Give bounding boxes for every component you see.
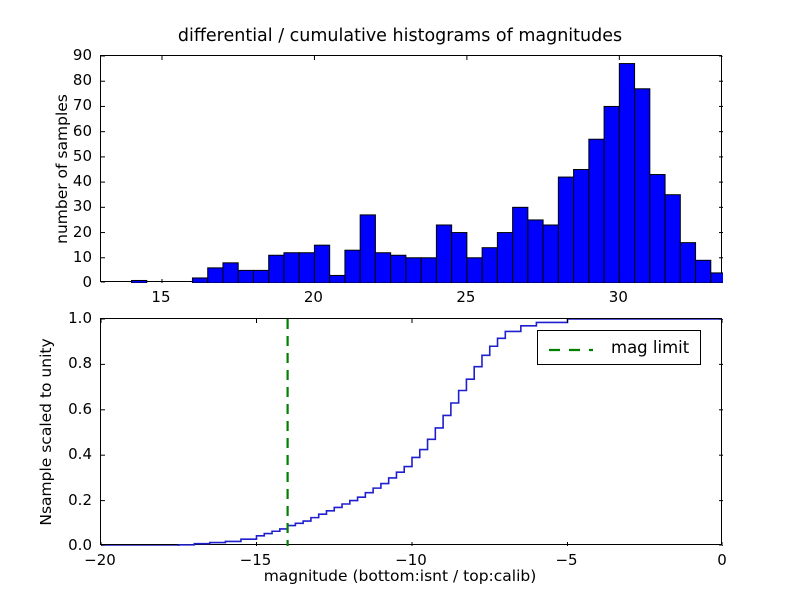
y-tick-label: 70 bbox=[50, 96, 92, 114]
histogram-bar bbox=[223, 263, 238, 283]
histogram-bar bbox=[619, 64, 634, 283]
histogram-bar bbox=[680, 243, 695, 283]
histogram-bar bbox=[452, 233, 467, 283]
figure-canvas: differential / cumulative histograms of … bbox=[0, 0, 800, 600]
histogram-bar bbox=[269, 255, 284, 283]
y-tick-label: 0.8 bbox=[36, 354, 92, 372]
y-tick-label: 50 bbox=[50, 147, 92, 165]
y-tick-label: 0 bbox=[50, 273, 92, 291]
histogram-bar bbox=[360, 215, 375, 283]
histogram-bar bbox=[528, 220, 543, 283]
histogram-bar bbox=[604, 106, 619, 283]
histogram-bar bbox=[513, 207, 528, 283]
y-tick-label: 90 bbox=[50, 46, 92, 64]
histogram-bar bbox=[238, 270, 253, 283]
histogram-bar bbox=[345, 250, 360, 283]
x-tick-label: 30 bbox=[609, 288, 628, 306]
figure-x-axis-label: magnitude (bottom:isnt / top:calib) bbox=[0, 567, 800, 585]
histogram-bar bbox=[192, 278, 207, 283]
histogram-bar bbox=[665, 195, 680, 283]
histogram-bar bbox=[330, 275, 345, 283]
histogram-bars bbox=[131, 64, 723, 283]
histogram-bar bbox=[558, 177, 573, 283]
histogram-bar bbox=[375, 253, 390, 283]
differential-histogram-plot bbox=[101, 56, 723, 283]
histogram-bar bbox=[635, 89, 650, 283]
figure-title: differential / cumulative histograms of … bbox=[0, 26, 800, 46]
x-tick-label: 15 bbox=[151, 288, 170, 306]
histogram-bar bbox=[421, 258, 436, 283]
y-tick-label: 60 bbox=[50, 122, 92, 140]
y-tick-label: 20 bbox=[50, 223, 92, 241]
bottom-panel-y-axis-label: Nsample scaled to unity bbox=[37, 318, 55, 546]
histogram-bar bbox=[436, 225, 451, 283]
differential-histogram-axes bbox=[100, 55, 722, 282]
y-tick-label: 30 bbox=[50, 197, 92, 215]
histogram-bar bbox=[406, 258, 421, 283]
y-tick-label: 40 bbox=[50, 172, 92, 190]
x-tick-label: 20 bbox=[304, 288, 323, 306]
x-tick-label: 25 bbox=[456, 288, 475, 306]
histogram-bar bbox=[284, 253, 299, 283]
mag-limit-line-icon bbox=[549, 347, 593, 349]
histogram-bar bbox=[131, 280, 146, 283]
y-tick-label: 1.0 bbox=[36, 309, 92, 327]
histogram-bar bbox=[589, 139, 604, 283]
histogram-bar bbox=[314, 245, 329, 283]
histogram-bar bbox=[650, 175, 665, 283]
histogram-bar bbox=[497, 233, 512, 283]
y-tick-label: 10 bbox=[50, 248, 92, 266]
histogram-bar bbox=[208, 268, 223, 283]
y-tick-label: 0.4 bbox=[36, 445, 92, 463]
y-tick-label: 80 bbox=[50, 71, 92, 89]
histogram-bar bbox=[467, 258, 482, 283]
histogram-bar bbox=[711, 273, 723, 283]
histogram-bar bbox=[696, 260, 711, 283]
y-tick-label: 0.6 bbox=[36, 400, 92, 418]
histogram-bar bbox=[543, 225, 558, 283]
y-tick-label: 0.2 bbox=[36, 491, 92, 509]
legend: mag limit bbox=[537, 330, 701, 365]
legend-entry-label: mag limit bbox=[611, 338, 689, 357]
histogram-bar bbox=[299, 253, 314, 283]
histogram-bar bbox=[253, 270, 268, 283]
histogram-bar bbox=[482, 248, 497, 283]
histogram-bar bbox=[391, 255, 406, 283]
histogram-bar bbox=[574, 170, 589, 284]
